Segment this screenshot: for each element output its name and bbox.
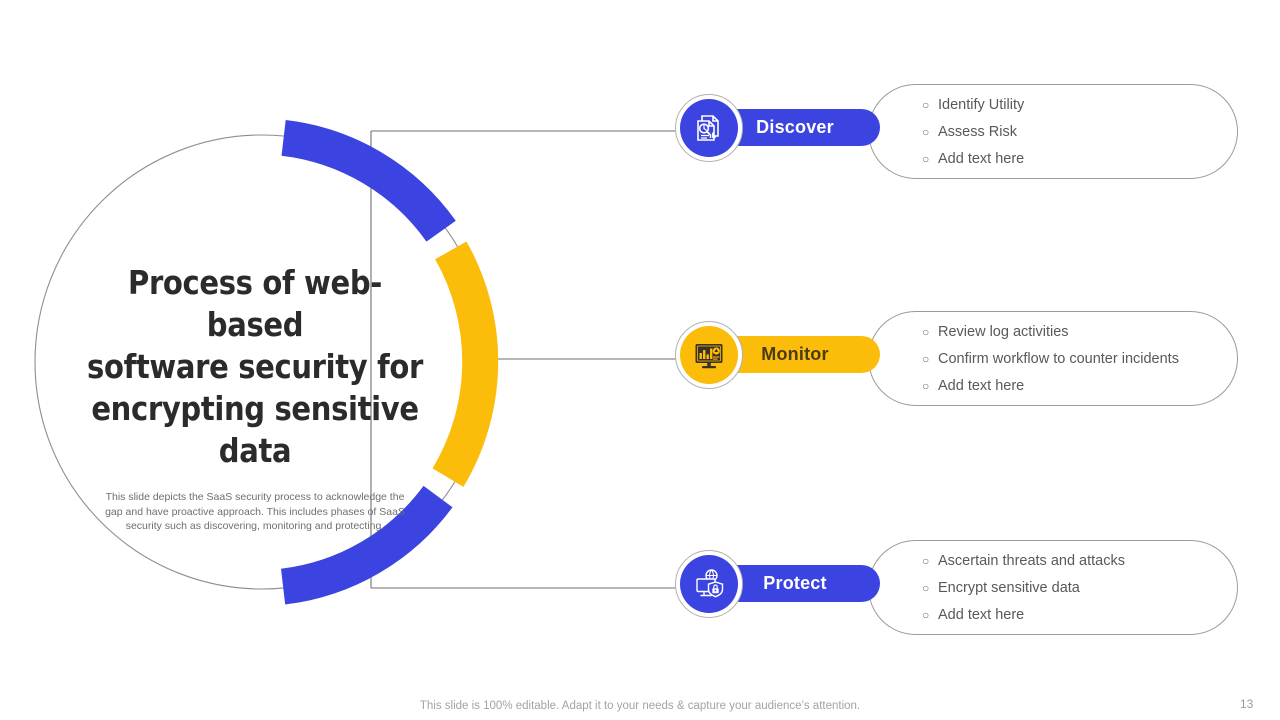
protect-bullet-list: ○ Ascertain threats and attacks ○ Encryp…: [922, 548, 1252, 629]
discover-bullet-list: ○ Identify Utility ○ Assess Risk ○ Add t…: [922, 92, 1252, 173]
bullet-text: Identify Utility: [938, 92, 1024, 119]
list-item: ○ Ascertain threats and attacks: [922, 548, 1252, 575]
list-item: ○ Add text here: [922, 373, 1252, 400]
globe-shield-lock-icon: [691, 566, 727, 602]
slide-canvas: Process of web-based software security f…: [0, 0, 1280, 720]
list-item: ○ Encrypt sensitive data: [922, 575, 1252, 602]
bullet-marker: ○: [922, 146, 938, 173]
list-item: ○ Assess Risk: [922, 119, 1252, 146]
bullet-text: Add text here: [938, 146, 1024, 173]
page-title: Process of web-based software security f…: [83, 262, 426, 472]
headline-block: Process of web-based software security f…: [60, 262, 450, 534]
bullet-marker: ○: [922, 602, 938, 629]
discover-label: Discover: [756, 117, 834, 138]
bullet-marker: ○: [922, 119, 938, 146]
page-number: 13: [1240, 697, 1270, 711]
footer-note: This slide is 100% editable. Adapt it to…: [0, 700, 1280, 712]
slide-description: This slide depicts the SaaS security pro…: [105, 490, 405, 534]
list-item: ○ Review log activities: [922, 319, 1252, 346]
monitor-label: Monitor: [761, 344, 828, 365]
discover-arc: [284, 138, 442, 231]
bullet-marker: ○: [922, 319, 938, 346]
bullet-marker: ○: [922, 92, 938, 119]
bullet-text: Add text here: [938, 602, 1024, 629]
bullet-marker: ○: [922, 373, 938, 400]
list-item: ○ Add text here: [922, 602, 1252, 629]
discover-icon-badge[interactable]: [675, 94, 743, 162]
bullet-marker: ○: [922, 548, 938, 575]
bullet-text: Ascertain threats and attacks: [938, 548, 1125, 575]
protect-label: Protect: [763, 573, 826, 594]
desktop-chart-icon: [691, 337, 727, 373]
bullet-marker: ○: [922, 346, 938, 373]
bullet-text: Confirm workflow to counter incidents: [938, 346, 1179, 373]
list-item: ○ Confirm workflow to counter incidents: [922, 346, 1252, 373]
list-item: ○ Add text here: [922, 146, 1252, 173]
list-item: ○ Identify Utility: [922, 92, 1252, 119]
bullet-marker: ○: [922, 575, 938, 602]
bullet-text: Encrypt sensitive data: [938, 575, 1080, 602]
monitor-bullet-list: ○ Review log activities ○ Confirm workfl…: [922, 319, 1252, 400]
document-magnifier-icon: [691, 110, 727, 146]
protect-icon-badge[interactable]: [675, 550, 743, 618]
bullet-text: Assess Risk: [938, 119, 1017, 146]
bullet-text: Review log activities: [938, 319, 1069, 346]
monitor-arc: [448, 250, 480, 477]
bullet-text: Add text here: [938, 373, 1024, 400]
monitor-icon-badge[interactable]: [675, 321, 743, 389]
